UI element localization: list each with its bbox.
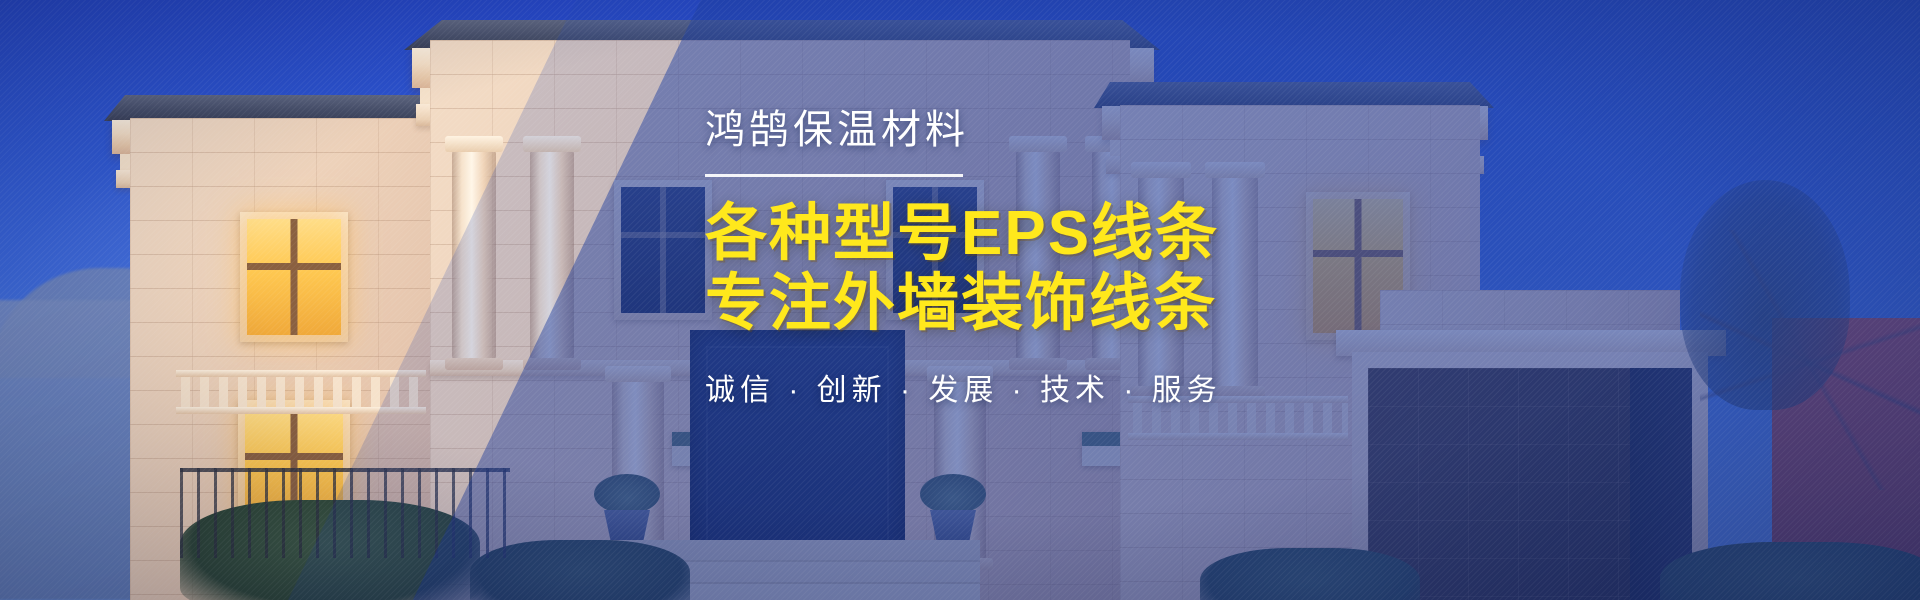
hedge-far-right (1660, 542, 1920, 600)
shrub (594, 474, 660, 514)
divider-rule (705, 174, 963, 177)
balustrade-left (176, 370, 426, 414)
balustrade-rail-top (176, 370, 426, 377)
window-dark-glass (621, 187, 705, 313)
pot (604, 510, 650, 540)
window-glow (247, 219, 341, 335)
pot (930, 510, 976, 540)
promo-banner: 鸿鹄保温材料 各种型号EPS线条 专注外墙装饰线条 诚信 · 创新 · 发展 ·… (0, 0, 1920, 600)
balustrade-rail-bottom (1128, 433, 1348, 440)
shrub (920, 474, 986, 514)
bare-branches (1700, 230, 1920, 490)
headline-line-2: 专注外墙装饰线条 (705, 269, 1345, 339)
planter-left (592, 478, 662, 540)
column-center-1 (452, 150, 496, 360)
iron-fence (180, 468, 510, 558)
planter-right (918, 478, 988, 540)
banner-copy: 鸿鹄保温材料 各种型号EPS线条 专注外墙装饰线条 诚信 · 创新 · 发展 ·… (705, 108, 1345, 409)
headline-line-1: 各种型号EPS线条 (705, 199, 1345, 269)
brand-name: 鸿鹄保温材料 (705, 108, 1345, 152)
balusters (176, 377, 426, 407)
window-left-upper (240, 212, 348, 342)
hedge-right (1200, 548, 1420, 600)
column-center-2 (530, 150, 574, 360)
tagline: 诚信 · 创新 · 发展 · 技术 · 服务 (705, 373, 1345, 409)
window-center-upper-left (614, 180, 712, 320)
balustrade-rail-bottom (176, 407, 426, 414)
